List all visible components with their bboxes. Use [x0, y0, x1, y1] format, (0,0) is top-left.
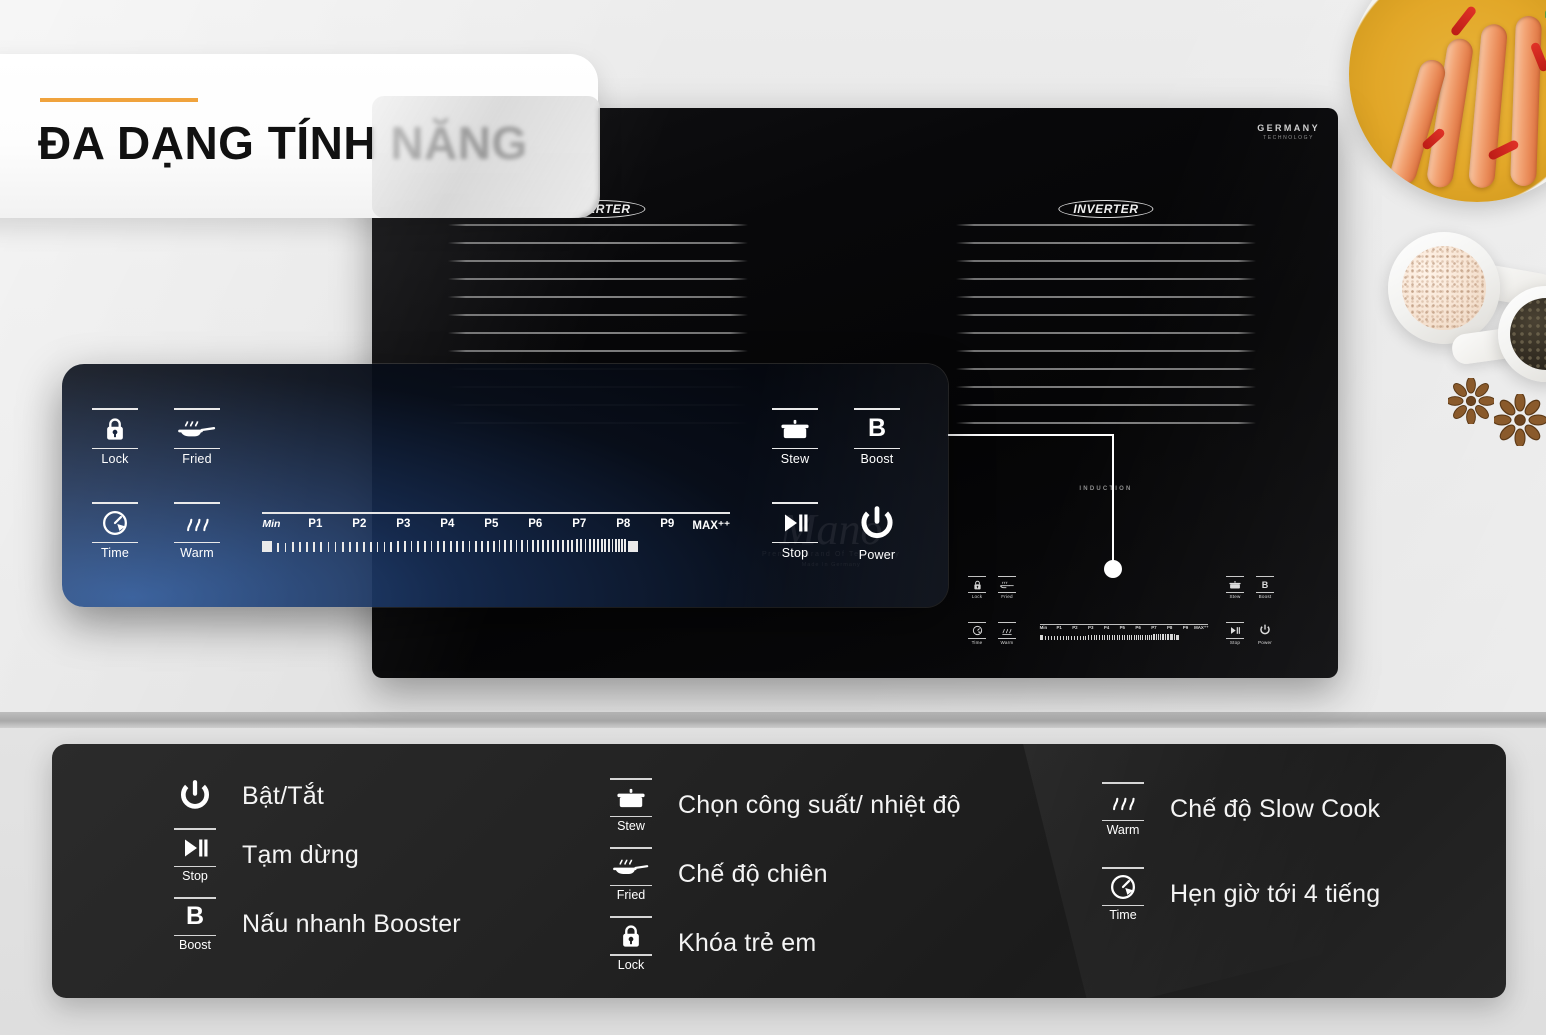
legend-column-1: Bật/Tắt Stop Tạm dừng B Bo	[164, 778, 461, 966]
fried-pan-icon	[165, 414, 229, 444]
slider-level-label: P3	[396, 518, 410, 530]
legend-item: Stew Chọn công suất/ nhiệt độ	[600, 778, 961, 833]
legend-icon-caption: Warm	[1092, 823, 1154, 837]
legend-item-text: Chế độ chiên	[678, 860, 828, 889]
cooktop-key-stew[interactable]: Stew	[1222, 576, 1248, 599]
cooktop-slider-ticks	[1040, 632, 1208, 640]
callout-key-stop[interactable]: Stop	[763, 502, 827, 560]
stew-pot-icon	[600, 783, 662, 813]
cooktop-key-label: Warm	[994, 640, 1020, 645]
cooktop-key-power[interactable]: Power	[1252, 622, 1278, 645]
germany-badge-line1: GERMANY	[1257, 123, 1320, 133]
slider-level-label: P1	[308, 518, 322, 530]
legend-icon-warm: Warm	[1092, 782, 1154, 837]
legend-icon-caption: Fried	[600, 888, 662, 902]
lock-icon	[964, 578, 990, 591]
legend-item: Stop Tạm dừng	[164, 828, 461, 883]
slider-level-label: P7	[1151, 625, 1156, 630]
legend-icon-fried: Fried	[600, 847, 662, 902]
callout-key-label: Stop	[763, 546, 827, 560]
slider-level-label: P8	[616, 518, 630, 530]
legend-icon-power	[164, 778, 226, 814]
callout-slider-labels: MinP1P2P3P4P5P6P7P8P9MAX⁺⁺	[262, 518, 730, 534]
slider-level-label: P1	[1056, 625, 1061, 630]
legend-item-text: Bật/Tắt	[242, 782, 324, 811]
cooktop-key-label: Stop	[1222, 640, 1248, 645]
legend-item-text: Chọn công suất/ nhiệt độ	[678, 791, 961, 820]
legend-item-text: Hẹn giờ tới 4 tiếng	[1170, 880, 1380, 909]
control-panel-callout: Mano Premium Brand Of Technology Made In…	[62, 364, 948, 607]
stew-pot-icon	[1222, 578, 1248, 591]
power-icon	[1252, 622, 1278, 638]
slider-level-label: P2	[352, 518, 366, 530]
title-accent-rule	[40, 98, 198, 102]
legend-item: B Boost Nấu nhanh Booster	[164, 897, 461, 952]
legend-icon-caption: Boost	[164, 938, 226, 952]
inverter-logo-right: INVERTER	[1058, 200, 1153, 218]
cooktop-key-fried[interactable]: Fried	[994, 576, 1020, 599]
cooktop-key-label: Fried	[994, 594, 1020, 599]
cooktop-key-warm[interactable]: Warm	[994, 622, 1020, 645]
feature-legend-panel: Bật/Tắt Stop Tạm dừng B Bo	[52, 744, 1506, 998]
legend-column-2: Stew Chọn công suất/ nhiệt độ Fried Chế …	[600, 778, 961, 986]
warm-waves-icon	[165, 508, 229, 538]
callout-key-label: Fried	[165, 452, 229, 466]
cooktop-key-label: Boost	[1252, 594, 1278, 599]
slider-level-label: P4	[1104, 625, 1109, 630]
star-anise-icon	[1494, 394, 1546, 446]
legend-icon-caption: Lock	[600, 958, 662, 972]
spice-spoon-salt	[1388, 232, 1500, 344]
legend-icon-caption: Stew	[600, 819, 662, 833]
timer-icon	[964, 624, 990, 637]
title-glass-overlay	[372, 96, 600, 218]
legend-item-text: Khóa trẻ em	[678, 929, 816, 958]
legend-item-text: Chế độ Slow Cook	[1170, 795, 1380, 824]
callout-key-warm[interactable]: Warm	[165, 502, 229, 560]
lock-icon	[600, 921, 662, 951]
slider-level-label: MAX⁺⁺	[1194, 625, 1208, 631]
slider-level-label: P6	[1135, 625, 1140, 630]
product-feature-slide: ULTRA INDUCTION HOB GERMANY TECHNOLOGY I…	[0, 0, 1546, 1035]
callout-power-slider[interactable]: MinP1P2P3P4P5P6P7P8P9MAX⁺⁺	[262, 512, 730, 552]
germany-technology-badge: GERMANY TECHNOLOGY	[1257, 123, 1320, 141]
stew-pot-icon	[763, 414, 827, 444]
burner-zone-right: INVERTER INDUCTION	[956, 200, 1256, 450]
callout-key-label: Power	[845, 548, 909, 562]
callout-key-time[interactable]: Time	[83, 502, 147, 560]
play-pause-icon	[1222, 624, 1248, 637]
cooktop-key-boost[interactable]: B Boost	[1252, 576, 1278, 599]
slider-level-label: P4	[440, 518, 454, 530]
legend-icon-caption: Time	[1092, 908, 1154, 922]
callout-key-boost[interactable]: B Boost	[845, 408, 909, 466]
induction-label: INDUCTION	[1079, 486, 1132, 492]
fried-pan-icon	[994, 578, 1020, 591]
callout-key-power[interactable]: Power	[845, 500, 909, 562]
legend-item: Fried Chế độ chiên	[600, 847, 961, 902]
slider-level-label: P8	[1167, 625, 1172, 630]
callout-key-stew[interactable]: Stew	[763, 408, 827, 466]
boost-b-icon: B	[164, 902, 226, 932]
fried-pan-icon	[600, 852, 662, 882]
legend-item: Bật/Tắt	[164, 778, 461, 814]
legend-item: Lock Khóa trẻ em	[600, 916, 961, 971]
slider-level-label: Min	[1040, 625, 1048, 630]
slider-level-label: P7	[572, 518, 586, 530]
legend-column-3: Warm Chế độ Slow Cook Time Hẹn giờ tới 4…	[1092, 782, 1380, 936]
germany-badge-line2: TECHNOLOGY	[1257, 135, 1320, 141]
slider-level-label: P5	[484, 518, 498, 530]
legend-item: Warm Chế độ Slow Cook	[1092, 782, 1380, 837]
cooktop-key-label: Time	[964, 640, 990, 645]
warm-waves-icon	[994, 624, 1020, 637]
callout-key-label: Warm	[165, 546, 229, 560]
slider-level-label: P6	[528, 518, 542, 530]
callout-key-lock[interactable]: Lock	[83, 408, 147, 466]
slider-level-label: P9	[1183, 625, 1188, 630]
cooktop-key-label: Stew	[1222, 594, 1248, 599]
cooktop-key-label: Lock	[964, 594, 990, 599]
legend-item-text: Nấu nhanh Booster	[242, 910, 461, 939]
cooktop-key-lock[interactable]: Lock	[964, 576, 990, 599]
play-pause-icon	[164, 833, 226, 863]
callout-key-fried[interactable]: Fried	[165, 408, 229, 466]
slider-level-label: P5	[1120, 625, 1125, 630]
legend-icon-stew: Stew	[600, 778, 662, 833]
legend-icon-boost: B Boost	[164, 897, 226, 952]
cooktop-power-slider[interactable]: MinP1P2P3P4P5P6P7P8P9MAX⁺⁺	[1040, 624, 1208, 640]
cooktop-key-time[interactable]: Time	[964, 622, 990, 645]
slider-level-label: P2	[1072, 625, 1077, 630]
lock-icon	[83, 414, 147, 444]
cooktop-slider-labels: MinP1P2P3P4P5P6P7P8P9MAX⁺⁺	[1040, 625, 1208, 632]
timer-icon	[1092, 872, 1154, 902]
burner-zone-lines-right	[956, 224, 1256, 440]
callout-key-label: Lock	[83, 452, 147, 466]
legend-icon-time: Time	[1092, 867, 1154, 922]
callout-key-label: Time	[83, 546, 147, 560]
slider-level-label: P9	[660, 518, 674, 530]
slider-level-label: Min	[262, 518, 280, 530]
countertop-edge	[0, 712, 1546, 728]
slider-level-label: P3	[1088, 625, 1093, 630]
cooktop-key-label: Power	[1252, 640, 1278, 645]
cooktop-control-panel: Lock Fried Time	[964, 576, 1274, 666]
callout-key-label: Stew	[763, 452, 827, 466]
warm-waves-icon	[1092, 787, 1154, 817]
legend-item: Time Hẹn giờ tới 4 tiếng	[1092, 867, 1380, 922]
star-anise-icon	[1448, 378, 1494, 424]
callout-slider-ticks	[262, 538, 730, 552]
power-icon	[164, 781, 226, 811]
boost-b-icon: B	[1252, 578, 1278, 591]
cooktop-key-stop[interactable]: Stop	[1222, 622, 1248, 645]
boost-b-icon: B	[845, 414, 909, 444]
callout-key-label: Boost	[845, 452, 909, 466]
slider-level-label: MAX⁺⁺	[692, 518, 730, 532]
leader-endpoint-dot	[1104, 560, 1122, 578]
legend-icon-lock: Lock	[600, 916, 662, 971]
legend-icon-stop: Stop	[164, 828, 226, 883]
timer-icon	[83, 508, 147, 538]
legend-icon-caption: Stop	[164, 869, 226, 883]
power-icon	[845, 504, 909, 544]
play-pause-icon	[763, 508, 827, 538]
legend-item-text: Tạm dừng	[242, 841, 359, 870]
